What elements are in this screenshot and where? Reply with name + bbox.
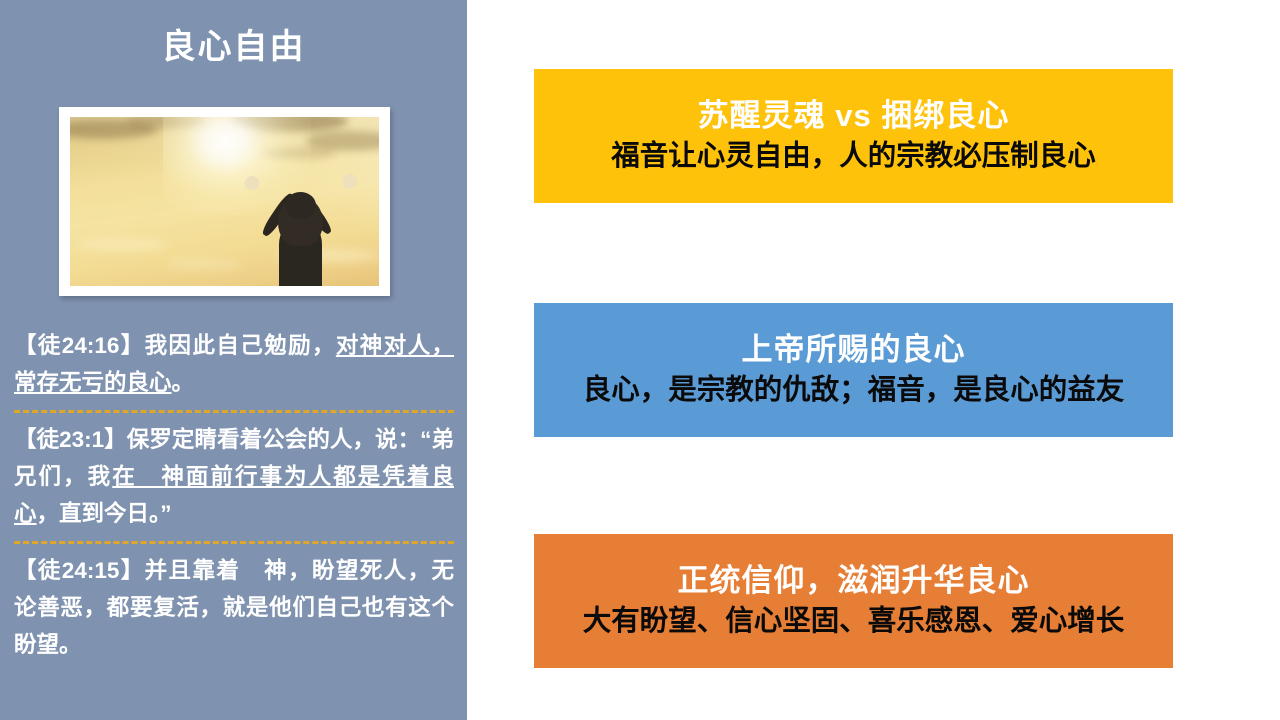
panel-orthodox-faith: 正统信仰，滋润升华良心 大有盼望、信心坚固、喜乐感恩、爱心增长 (534, 534, 1173, 668)
panel-god-given-conscience: 上帝所赐的良心 良心，是宗教的仇敌；福音，是良心的益友 (534, 303, 1173, 437)
panel-heading: 苏醒灵魂 vs 捆绑良心 (698, 97, 1010, 134)
scripture-verse-acts-24-15: 【徒24:15】并且靠着 神，盼望死人，无论善恶，都要复活，就是他们自己也有这个… (14, 552, 454, 663)
verse-text-plain: 【徒24:16】我因此自己勉励， (14, 333, 336, 358)
right-hand-shape (341, 172, 360, 191)
scripture-list: 【徒24:16】我因此自己勉励，对神对人，常存无亏的良心。 【徒23:1】保罗定… (14, 327, 454, 663)
verse-text-plain: 【徒24:15】并且靠着 神，盼望死人，无论善恶，都要复活，就是他们自己也有这个… (14, 558, 454, 657)
verse-divider (14, 541, 454, 544)
verse-divider (14, 410, 454, 413)
scripture-verse-acts-24-16: 【徒24:16】我因此自己勉励，对神对人，常存无亏的良心。 (14, 327, 454, 401)
worship-sunrise-photo-frame (59, 107, 390, 296)
presentation-slide: 良心自由 (0, 0, 1280, 720)
scripture-verse-acts-23-1: 【徒23:1】保罗定睛看着公会的人，说：“弟兄们，我在 神面前行事为人都是凭着良… (14, 421, 454, 532)
worship-sunrise-photo (70, 117, 379, 286)
cloud-shape (76, 239, 169, 251)
panel-awaken-vs-bind: 苏醒灵魂 vs 捆绑良心 福音让心灵自由，人的宗教必压制良心 (534, 69, 1173, 203)
panel-subtitle: 良心，是宗教的仇敌；福音，是良心的益友 (583, 373, 1125, 408)
panel-heading: 上帝所赐的良心 (742, 331, 966, 368)
sidebar-panel: 良心自由 (0, 0, 467, 720)
head-shape (285, 192, 316, 219)
panel-subtitle: 大有盼望、信心坚固、喜乐感恩、爱心增长 (583, 604, 1125, 639)
person-silhouette (231, 174, 373, 286)
panel-subtitle: 福音让心灵自由，人的宗教必压制良心 (611, 139, 1096, 174)
panel-heading: 正统信仰，滋润升华良心 (678, 562, 1030, 599)
page-title: 良心自由 (0, 26, 467, 69)
verse-text-plain: ，直到今日。” (37, 501, 172, 526)
verse-text-plain: 。 (172, 370, 195, 395)
left-hand-shape (243, 173, 262, 192)
